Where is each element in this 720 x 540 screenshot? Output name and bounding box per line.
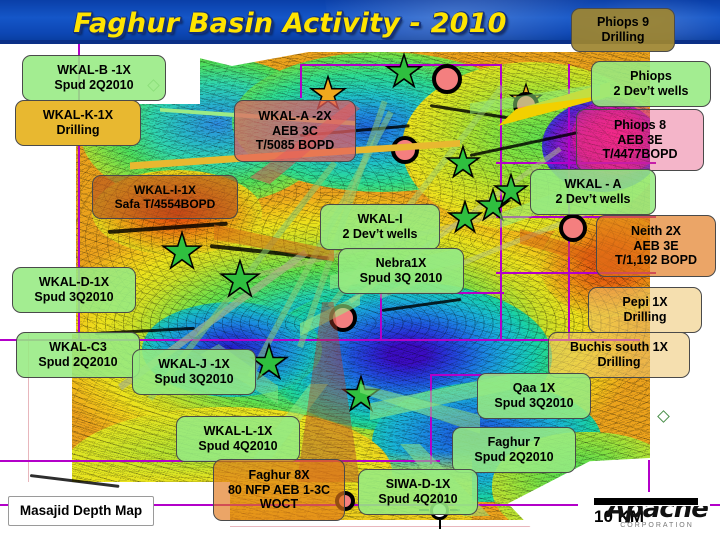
callout-phiops-8[interactable]: Phiops 8 AEB 3E T/4477BOPD xyxy=(576,109,704,171)
callout-line: Phiops 9 xyxy=(597,15,649,30)
callout-pepi-1x[interactable]: Pepi 1X Drilling xyxy=(588,287,702,333)
callout-line: AEB 3E xyxy=(633,239,678,254)
crosshair-tick xyxy=(439,520,441,529)
logo-subtitle: CORPORATION xyxy=(598,522,716,529)
callout-line: WKAL-B -1X xyxy=(57,63,131,78)
callout-line: Faghur 8X xyxy=(248,468,309,483)
callout-line: WKAL-L-1X xyxy=(204,424,273,439)
callout-wkal-k-1x[interactable]: WKAL-K-1X Drilling xyxy=(15,100,141,146)
callout-line: Faghur 7 xyxy=(488,435,541,450)
callout-line: WKAL-C3 xyxy=(49,340,107,355)
callout-neith-2x[interactable]: Neith 2X AEB 3E T/1,192 BOPD xyxy=(596,215,716,277)
callout-line: Drilling xyxy=(601,30,644,45)
callout-wkal-a[interactable]: WKAL - A 2 Dev’t wells xyxy=(530,169,656,215)
survey-grid-line xyxy=(430,374,432,464)
callout-line: SIWA-D-1X xyxy=(386,477,451,492)
callout-line: Drilling xyxy=(56,123,99,138)
green-star-well[interactable] xyxy=(218,258,262,302)
callout-line: Drilling xyxy=(597,355,640,370)
callout-wkal-c3[interactable]: WKAL-C3 Spud 2Q2010 xyxy=(16,332,140,378)
callout-line: AEB 3E xyxy=(617,133,662,148)
callout-line: 80 NFP AEB 1-3C xyxy=(228,483,330,498)
callout-line: WOCT xyxy=(260,497,298,512)
callout-siwa-d-1x[interactable]: SIWA-D-1X Spud 4Q2010 xyxy=(358,469,478,515)
callout-line: Spud 3Q2010 xyxy=(34,290,113,305)
callout-wkal-j-1x[interactable]: WKAL-J -1X Spud 3Q2010 xyxy=(132,349,256,395)
callout-line: 2 Dev’t wells xyxy=(613,84,688,99)
survey-grid-line xyxy=(300,64,302,98)
callout-buchis-south-1x[interactable]: Buchis south 1X Drilling xyxy=(548,332,690,378)
callout-line: Drilling xyxy=(623,310,666,325)
callout-line: 2 Dev’t wells xyxy=(342,227,417,242)
callout-line: Spud 3Q 2010 xyxy=(360,271,443,286)
company-logo: Apache CORPORATION xyxy=(598,506,716,540)
survey-grid-line xyxy=(380,292,382,340)
callout-line: Spud 2Q2010 xyxy=(54,78,133,93)
callout-wkal-a-2x[interactable]: WKAL-A -2X AEB 3C T/5085 BOPD xyxy=(234,100,356,162)
callout-line: T/1,192 BOPD xyxy=(615,253,697,268)
callout-faghur-8x[interactable]: Faghur 8X 80 NFP AEB 1-3C WOCT xyxy=(213,459,345,521)
callout-line: WKAL-I xyxy=(357,212,402,227)
pink-circle-well[interactable] xyxy=(559,214,587,242)
page-title: Faghur Basin Activity - 2010 xyxy=(60,4,520,42)
callout-wkal-b-1x[interactable]: WKAL-B -1X Spud 2Q2010 xyxy=(22,55,166,101)
callout-phiops[interactable]: Phiops 2 Dev’t wells xyxy=(591,61,711,107)
callout-wkal-d-1x[interactable]: WKAL-D-1X Spud 3Q2010 xyxy=(12,267,136,313)
callout-line: WKAL-D-1X xyxy=(39,275,109,290)
callout-line: Qaa 1X xyxy=(513,381,555,396)
callout-line: WKAL-A -2X xyxy=(258,109,331,124)
callout-line: WKAL-J -1X xyxy=(158,357,230,372)
callout-line: Spud 3Q2010 xyxy=(154,372,233,387)
callout-line: T/4477BOPD xyxy=(602,147,677,162)
callout-line: WKAL - A xyxy=(565,177,622,192)
map-canvas: WKAL-B -1X Spud 2Q2010 WKAL-K-1X Drillin… xyxy=(0,44,720,540)
pink-circle-well[interactable] xyxy=(432,64,462,94)
scale-bar-line xyxy=(594,498,698,505)
callout-qaa-1x[interactable]: Qaa 1X Spud 3Q2010 xyxy=(477,373,591,419)
callout-line: Phiops xyxy=(630,69,672,84)
callout-line: Neith 2X xyxy=(631,224,681,239)
callout-line: Spud 4Q2010 xyxy=(198,439,277,454)
callout-line: AEB 3C xyxy=(272,124,318,139)
map-caption: Masajid Depth Map xyxy=(20,503,142,519)
callout-line: Spud 4Q2010 xyxy=(378,492,457,507)
callout-line: WKAL-K-1X xyxy=(43,108,113,123)
green-star-well[interactable] xyxy=(160,230,204,274)
callout-line: Phiops 8 xyxy=(614,118,666,133)
callout-wkal-l-1x[interactable]: WKAL-L-1X Spud 4Q2010 xyxy=(176,416,300,462)
green-star-well[interactable] xyxy=(384,52,424,92)
slide-root: Faghur Basin Activity - 2010 xyxy=(0,0,720,540)
callout-wkal-i[interactable]: WKAL-I 2 Dev’t wells xyxy=(320,204,440,250)
callout-line: Buchis south 1X xyxy=(570,340,668,355)
callout-line: T/5085 BOPD xyxy=(256,138,335,153)
map-caption-box: Masajid Depth Map xyxy=(8,496,154,526)
callout-line: Safa T/4554BOPD xyxy=(115,197,216,211)
callout-line: Spud 2Q2010 xyxy=(38,355,117,370)
callout-wkal-i-1x[interactable]: WKAL-I-1X Safa T/4554BOPD xyxy=(92,175,238,219)
callout-line: Pepi 1X xyxy=(622,295,667,310)
callout-line: Spud 3Q2010 xyxy=(494,396,573,411)
callout-line: 2 Dev’t wells xyxy=(555,192,630,207)
callout-nebra-1x[interactable]: Nebra1X Spud 3Q 2010 xyxy=(338,248,464,294)
callout-line: Spud 2Q2010 xyxy=(474,450,553,465)
green-star-well[interactable] xyxy=(444,144,482,182)
callout-line: Nebra1X xyxy=(376,256,427,271)
callout-line: WKAL-I-1X xyxy=(134,183,196,197)
callout-phiops-9[interactable]: Phiops 9 Drilling xyxy=(571,8,675,52)
callout-faghur-7[interactable]: Faghur 7 Spud 2Q2010 xyxy=(452,427,576,473)
